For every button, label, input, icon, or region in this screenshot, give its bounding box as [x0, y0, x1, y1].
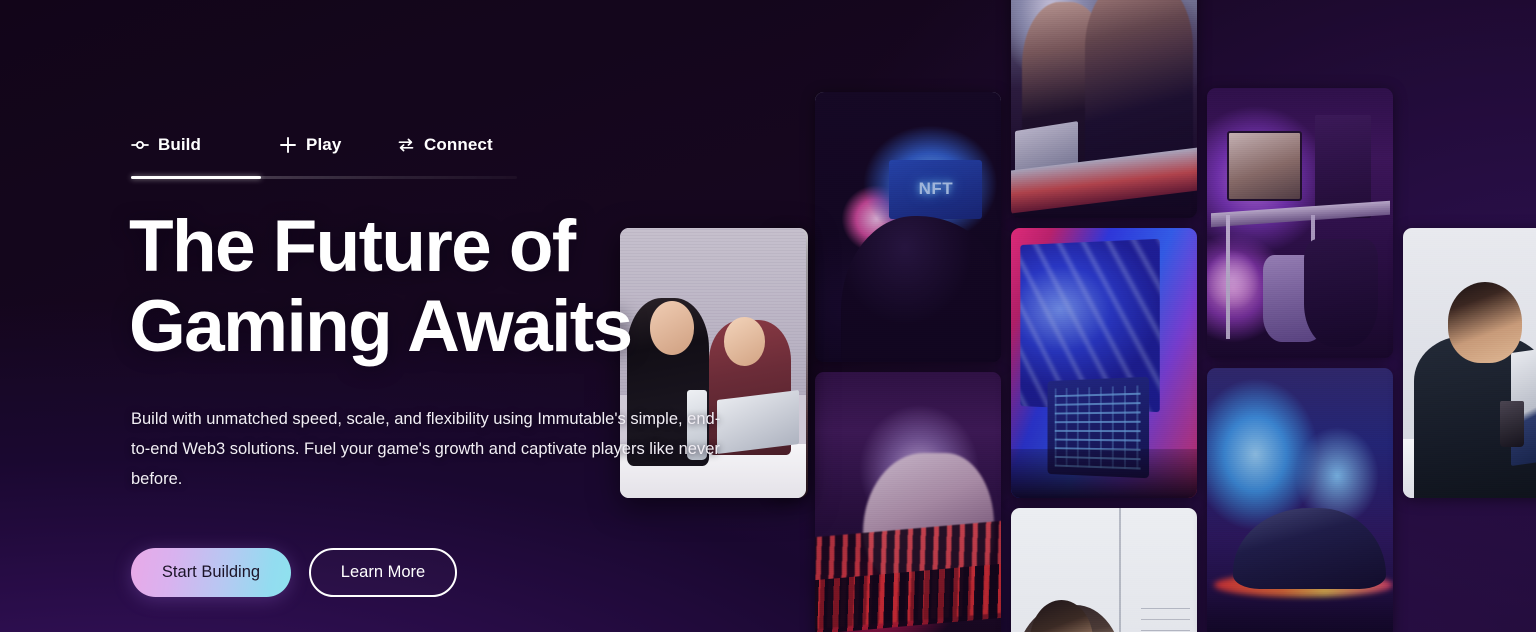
photo-card — [1011, 0, 1197, 218]
tab-play-label: Play — [306, 135, 341, 155]
photo-card — [815, 372, 1001, 632]
photo-grain — [1011, 228, 1197, 498]
photo-grain — [815, 92, 1001, 362]
photo-grain — [1011, 0, 1197, 218]
photo-grain — [1207, 368, 1393, 632]
photo-grain — [1011, 508, 1197, 632]
tab-build-label: Build — [158, 135, 201, 155]
learn-more-button[interactable]: Learn More — [309, 548, 457, 597]
node-connector-icon — [131, 136, 149, 154]
page-title: The Future of Gaming Awaits — [129, 207, 729, 367]
tab-active-indicator — [131, 176, 261, 179]
photo-card — [1207, 368, 1393, 632]
headline-line-1: The Future of — [129, 206, 575, 287]
hero-cta-group: Start Building Learn More — [131, 548, 457, 597]
tab-build[interactable]: Build — [131, 128, 261, 162]
tab-connect[interactable]: Connect — [391, 128, 517, 162]
tab-play[interactable]: Play — [261, 128, 391, 162]
start-building-button[interactable]: Start Building — [131, 548, 291, 597]
tab-progress-track[interactable] — [131, 176, 517, 179]
photo-grain — [1403, 228, 1536, 498]
collage-column-2 — [1011, 0, 1197, 632]
tab-connect-label: Connect — [424, 135, 493, 155]
exchange-arrows-icon — [397, 136, 415, 154]
photo-card: NFT — [815, 92, 1001, 362]
collage-column-4 — [1403, 0, 1536, 632]
hero-section: NFT — [0, 0, 1536, 632]
hero-tabs: Build Play — [131, 128, 517, 162]
photo-grain — [815, 372, 1001, 632]
photo-card — [1403, 228, 1536, 498]
collage-column-3 — [1207, 0, 1393, 632]
hero-content: Build Play — [131, 0, 751, 632]
collage-column-1: NFT — [815, 0, 1001, 632]
photo-card — [1011, 508, 1197, 632]
headline-line-2: Gaming Awaits — [129, 286, 632, 367]
hero-description: Build with unmatched speed, scale, and f… — [131, 404, 727, 494]
photo-card — [1011, 228, 1197, 498]
photo-grain — [1207, 88, 1393, 358]
photo-card — [1207, 88, 1393, 358]
photo-collage: NFT — [790, 0, 1536, 632]
plus-icon — [279, 136, 297, 154]
